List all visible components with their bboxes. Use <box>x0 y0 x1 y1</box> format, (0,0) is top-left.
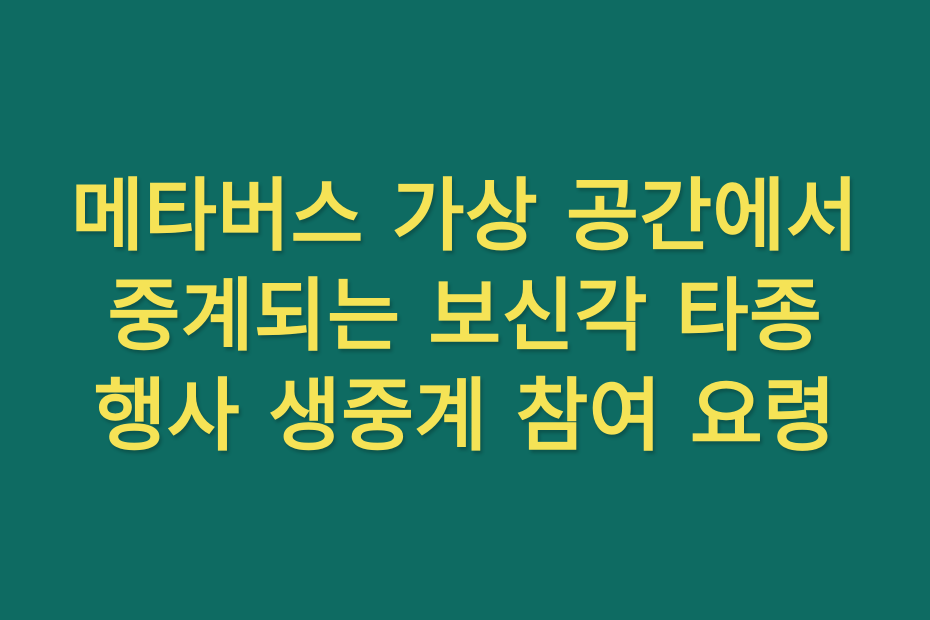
headline-block: 메타버스 가상 공간에서 중계되는 보신각 타종 행사 생중계 참여 요령 <box>0 166 930 466</box>
headline-line-1: 메타버스 가상 공간에서 <box>71 166 859 266</box>
headline-line-2: 중계되는 보신각 타종 <box>108 266 823 366</box>
headline-line-3: 행사 생중계 참여 요령 <box>94 366 837 466</box>
banner-canvas: 메타버스 가상 공간에서 중계되는 보신각 타종 행사 생중계 참여 요령 <box>0 0 930 620</box>
